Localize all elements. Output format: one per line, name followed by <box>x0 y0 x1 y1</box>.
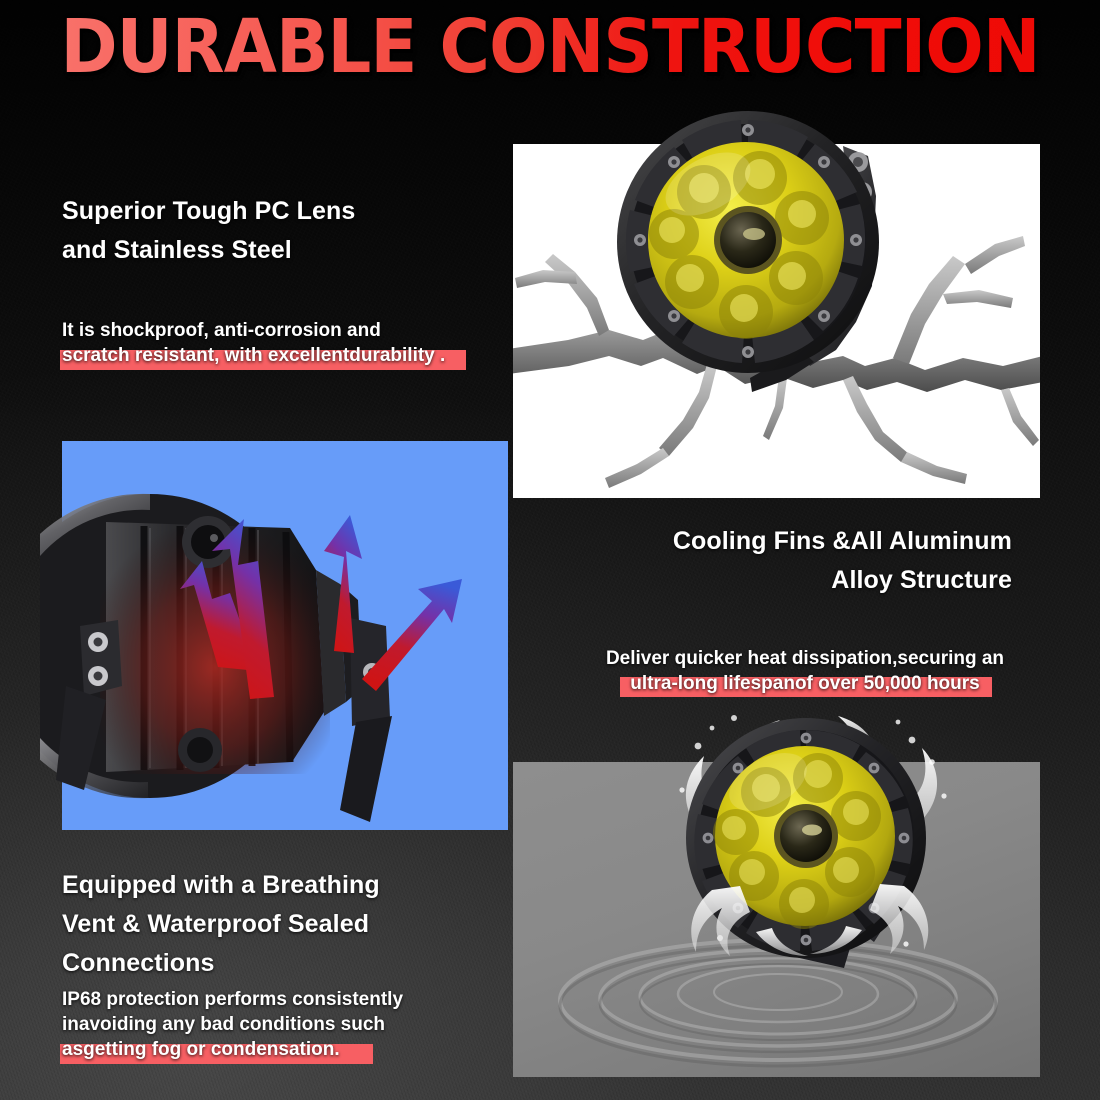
image-panel-cooling-fins <box>62 441 508 830</box>
water-ripples <box>513 762 1040 1077</box>
page-title: DURABLE CONSTRUCTION <box>39 4 1062 90</box>
body-waterproof: IP68 protection performs consistently in… <box>62 987 492 1062</box>
image-panel-cracked-ground <box>513 144 1040 498</box>
cracked-ground-illustration <box>513 144 1040 498</box>
body-cooling: Deliver quicker heat dissipation,securin… <box>592 646 1018 696</box>
body-lens: It is shockproof, anti-corrosion and scr… <box>62 318 492 368</box>
headline-cooling: Cooling Fins &All Aluminum Alloy Structu… <box>600 522 1012 600</box>
headline-lens: Superior Tough PC Lens and Stainless Ste… <box>62 192 492 270</box>
image-panel-water-splash <box>513 762 1040 1077</box>
headline-waterproof: Equipped with a Breathing Vent & Waterpr… <box>62 866 492 983</box>
